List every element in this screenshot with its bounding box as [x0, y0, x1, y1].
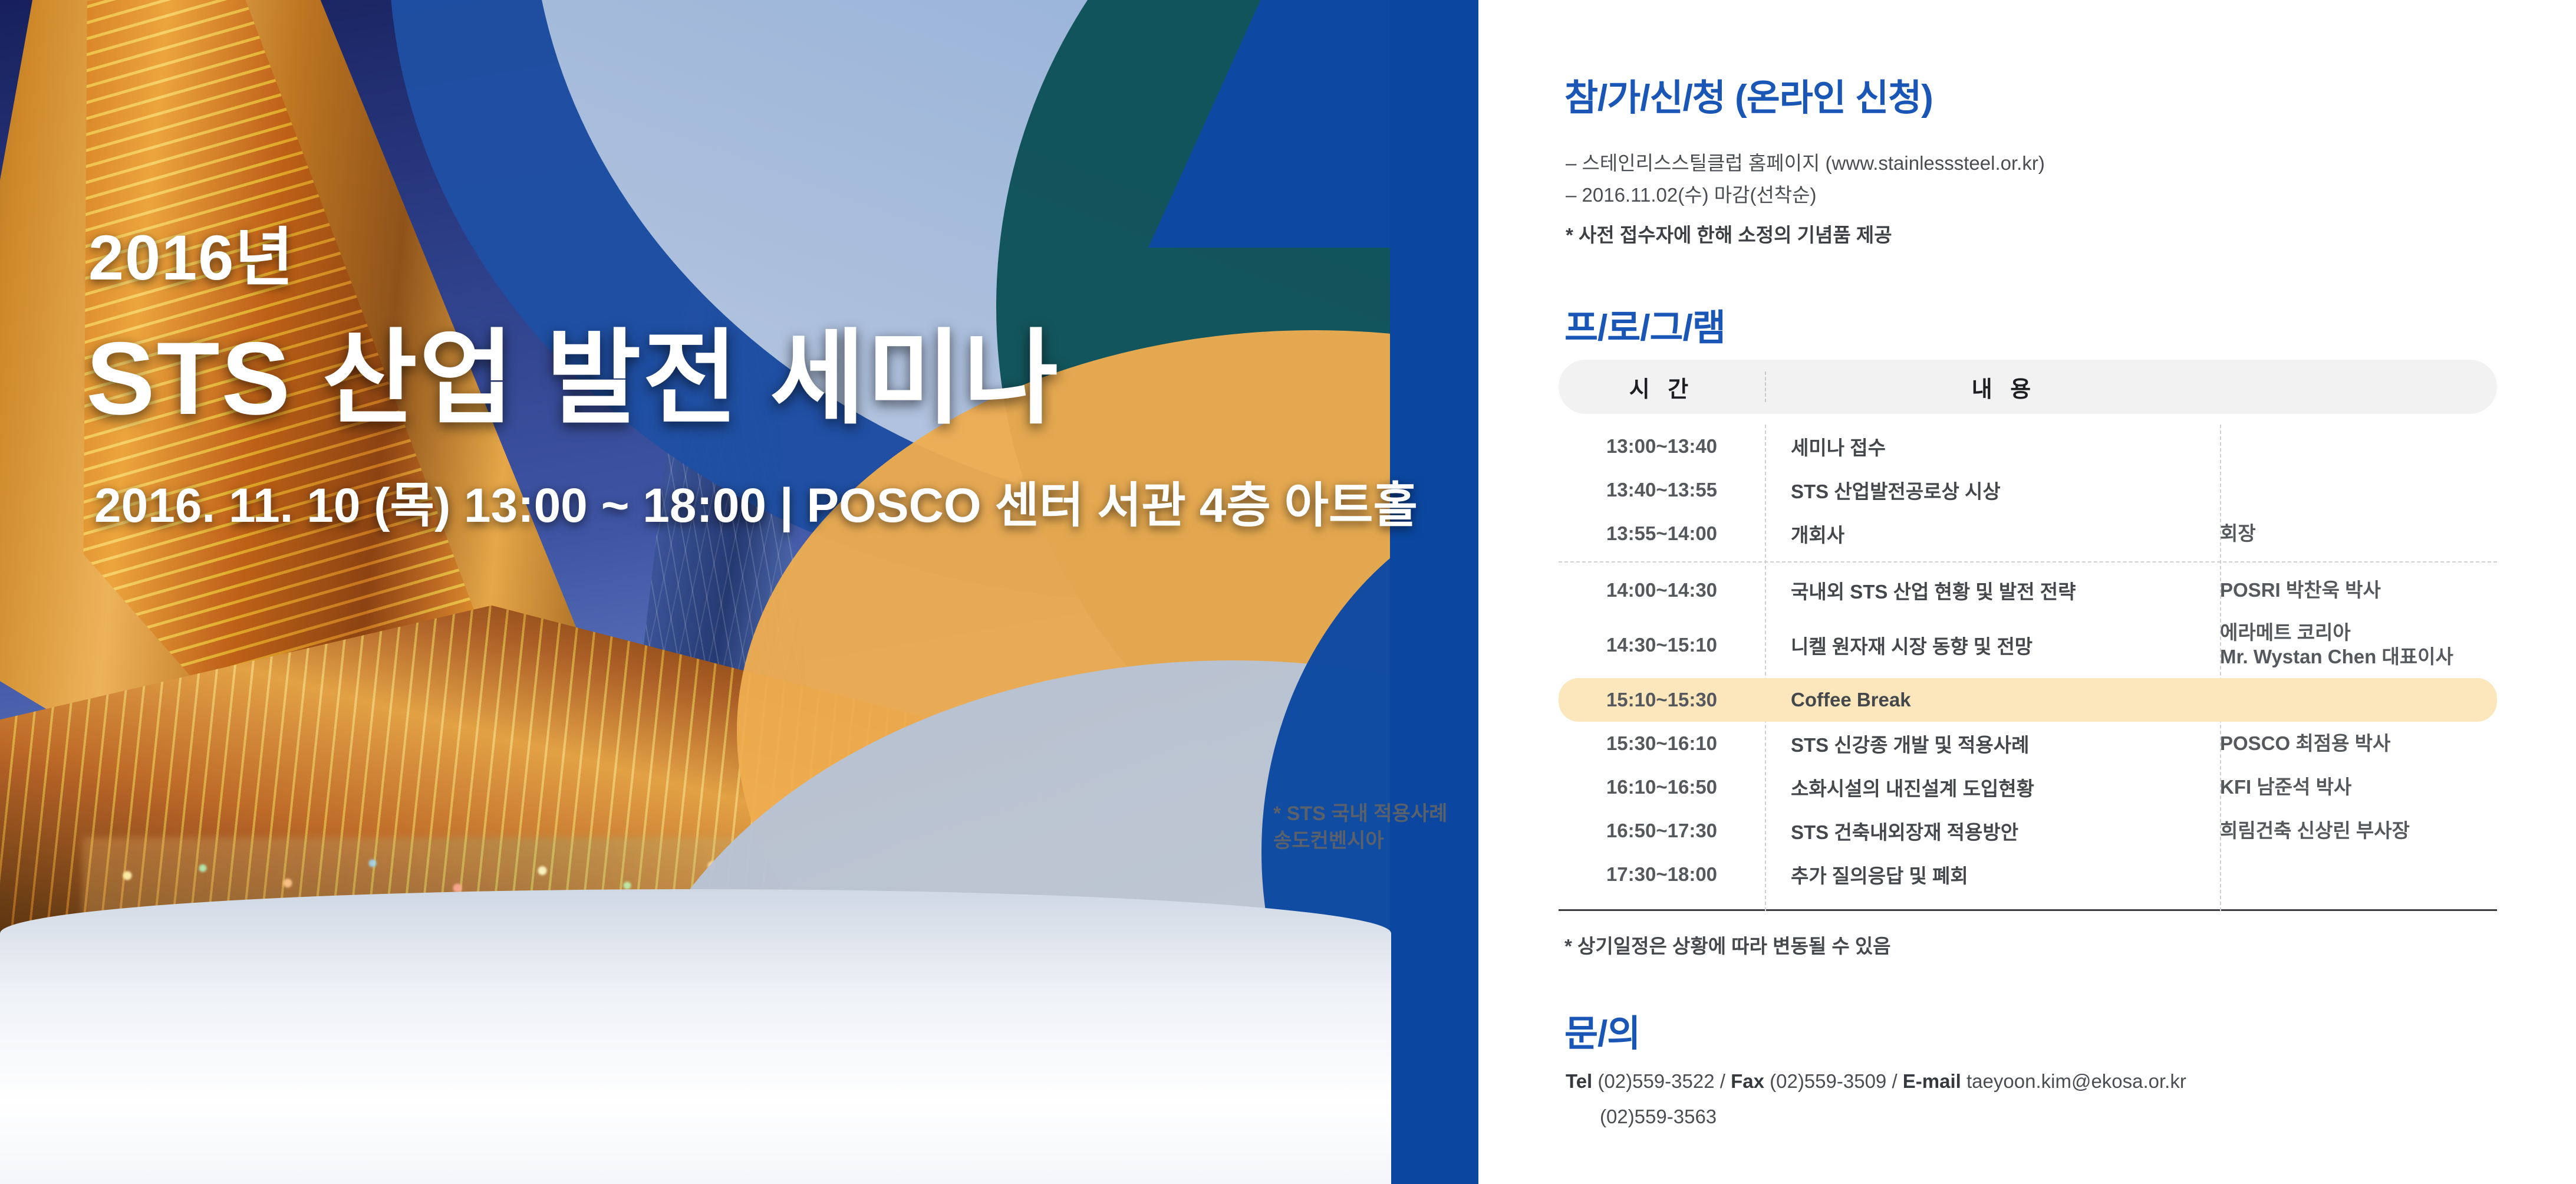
row-time: 14:00~14:30	[1559, 579, 1765, 601]
row-speaker: POSRI 박찬욱 박사	[2220, 578, 2497, 603]
inquiry-heading: 문/의	[1564, 1004, 1640, 1057]
program-heading: 프/로/그/램	[1564, 298, 1725, 351]
photo-caption-line2: 송도컨벤시아	[1273, 828, 1447, 855]
email-label: E-mail	[1903, 1070, 1961, 1092]
row-speaker: 에라메트 코리아Mr. Wystan Chen 대표이사	[2220, 621, 2497, 669]
row-topic: 국내외 STS 산업 현황 및 발전 전략	[1765, 576, 2220, 604]
registration-bullet-deadline: – 2016.11.02(수) 마감(선착순)	[1566, 179, 1817, 208]
row-topic: Coffee Break	[1765, 689, 2220, 711]
row-speaker: KFI 남준석 박사	[2220, 775, 2497, 800]
row-speaker-line: Mr. Wystan Chen 대표이사	[2220, 645, 2497, 669]
row-time: 13:40~13:55	[1559, 479, 1765, 501]
row-speaker: POSCO 최점용 박사	[2220, 732, 2497, 756]
row-time: 16:10~16:50	[1559, 776, 1765, 798]
table-row-divider	[1559, 561, 2497, 563]
table-row: 15:30~16:10STS 신강종 개발 및 적용사례POSCO 최점용 박사	[1559, 722, 2497, 765]
program-footnote: * 상기일정은 상황에 따라 변동될 수 있음	[1564, 930, 1891, 959]
header-divider	[1765, 371, 1766, 402]
row-speaker-line: POSRI 박찬욱 박사	[2220, 578, 2497, 603]
table-row: 16:10~16:50소화시설의 내진설계 도입현황KFI 남준석 박사	[1559, 765, 2497, 809]
email-value[interactable]: taeyoon.kim@ekosa.or.kr	[1966, 1070, 2186, 1092]
row-time: 16:50~17:30	[1559, 820, 1765, 842]
table-row: 17:30~18:00추가 질의응답 및 폐회	[1559, 853, 2497, 896]
row-time: 13:00~13:40	[1559, 435, 1765, 458]
table-row: 13:55~14:00개회사회장	[1559, 512, 2497, 555]
poster-artwork: 2016년 STS 산업 발전 세미나 2016. 11. 10 (목) 13:…	[0, 0, 1478, 1184]
row-time: 17:30~18:00	[1559, 863, 1765, 886]
row-topic: STS 건축내외장재 적용방안	[1765, 817, 2220, 845]
column-header-time: 시 간	[1559, 371, 1765, 403]
registration-bullet-homepage: – 스테인리스스틸클럽 홈페이지 (www.stainlesssteel.or.…	[1566, 147, 2045, 176]
poster-page: 2016년 STS 산업 발전 세미나 2016. 11. 10 (목) 13:…	[0, 0, 2576, 1184]
tel-label: Tel	[1566, 1070, 1592, 1092]
row-speaker-line: KFI 남준석 박사	[2220, 775, 2497, 800]
poster-year: 2016년	[88, 206, 295, 298]
row-time: 14:30~15:10	[1559, 634, 1765, 656]
table-row: 16:50~17:30STS 건축내외장재 적용방안희림건축 신상린 부사장	[1559, 809, 2497, 853]
registration-heading: 참/가/신/청 (온라인 신청)	[1564, 68, 1933, 121]
table-row: 14:00~14:30국내외 STS 산업 현황 및 발전 전략POSRI 박찬…	[1559, 568, 2497, 612]
table-row: 15:10~15:30Coffee Break	[1559, 678, 2497, 722]
row-speaker-line: 에라메트 코리아	[2220, 621, 2497, 645]
registration-bullet-gift: * 사전 접수자에 한해 소정의 기념품 제공	[1566, 219, 1892, 248]
contact-line: Tel (02)559-3522 / Fax (02)559-3509 / E-…	[1566, 1070, 2186, 1093]
program-table-header: 시 간 내 용	[1559, 360, 2497, 414]
row-speaker-line: 회장	[2220, 522, 2497, 546]
poster-title: STS 산업 발전 세미나	[86, 295, 1060, 444]
table-row: 13:00~13:40세미나 접수	[1559, 425, 2497, 468]
row-speaker-line: POSCO 최점용 박사	[2220, 732, 2497, 756]
row-topic: 니켈 원자재 시장 동향 및 전망	[1765, 631, 2220, 659]
fax-label: Fax	[1731, 1070, 1764, 1092]
row-topic: 세미나 접수	[1765, 432, 2220, 461]
contact-separator-2: /	[1892, 1070, 1897, 1092]
poster-datetime-venue: 2016. 11. 10 (목) 13:00 ~ 18:00 | POSCO 센…	[94, 466, 1418, 536]
fax-value: (02)559-3509	[1770, 1070, 1886, 1092]
table-row: 14:30~15:10니켈 원자재 시장 동향 및 전망에라메트 코리아Mr. …	[1559, 612, 2497, 678]
program-table: 시 간 내 용 13:00~13:40세미나 접수13:40~13:55STS …	[1559, 360, 2497, 911]
info-panel: 참/가/신/청 (온라인 신청) – 스테인리스스틸클럽 홈페이지 (www.s…	[1478, 0, 2576, 1184]
tel-secondary: (02)559-3563	[1600, 1106, 1717, 1128]
program-table-body: 13:00~13:40세미나 접수13:40~13:55STS 산업발전공로상 …	[1559, 425, 2497, 911]
row-topic: 개회사	[1765, 519, 2220, 548]
row-speaker: 희림건축 신상린 부사장	[2220, 819, 2497, 843]
photo-caption: * STS 국내 적용사례 송도컨벤시아	[1273, 801, 1447, 855]
photo-caption-line1: * STS 국내 적용사례	[1273, 801, 1447, 828]
row-topic: 추가 질의응답 및 폐회	[1765, 860, 2220, 889]
decor-blue-right-edge	[1390, 0, 1478, 1184]
row-speaker: 회장	[2220, 522, 2497, 546]
row-time: 15:30~16:10	[1559, 732, 1765, 755]
sponsor-strip: 주최 한국철강협회 스테인리스스틸클럽 후원 KI 대한금속 · 재료학회 TH…	[0, 1007, 1391, 1184]
row-time: 15:10~15:30	[1559, 689, 1765, 711]
column-header-content: 내 용	[1765, 371, 2497, 403]
row-topic: 소화시설의 내진설계 도입현황	[1765, 773, 2220, 801]
table-bottom-rule	[1559, 909, 2497, 911]
row-topic: STS 산업발전공로상 시상	[1765, 476, 2220, 504]
table-row: 13:40~13:55STS 산업발전공로상 시상	[1559, 468, 2497, 512]
row-speaker-line: 희림건축 신상린 부사장	[2220, 819, 2497, 843]
row-topic: STS 신강종 개발 및 적용사례	[1765, 729, 2220, 758]
contact-separator-1: /	[1720, 1070, 1725, 1092]
tel-value: (02)559-3522	[1597, 1070, 1714, 1092]
row-time: 13:55~14:00	[1559, 522, 1765, 545]
